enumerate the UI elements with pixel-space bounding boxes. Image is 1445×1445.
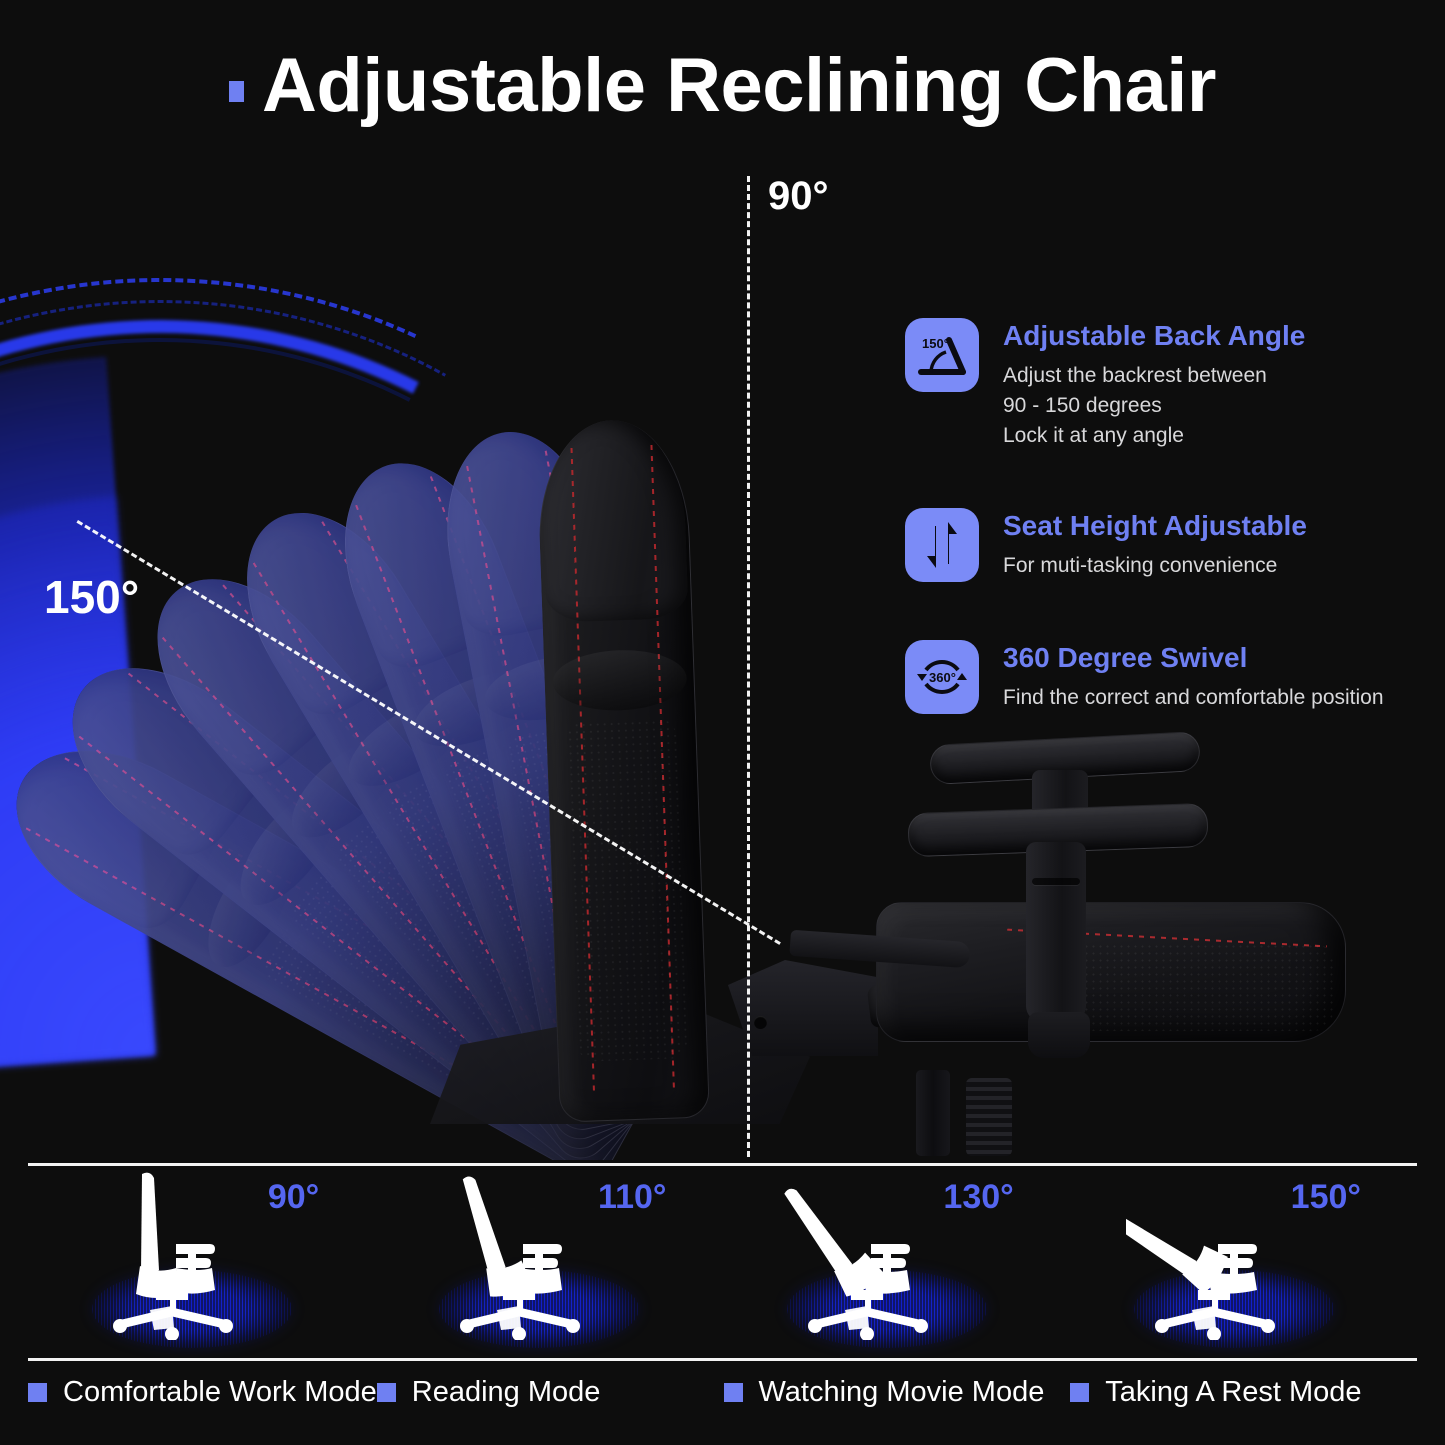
divider-top [28,1163,1417,1166]
mode-figure [779,1176,989,1352]
angle-label-150: 150° [44,570,139,624]
mode-figure [431,1176,641,1352]
mode-figure [84,1176,294,1352]
armrest-post-lower [1026,842,1086,1022]
svg-text:360°: 360° [929,670,956,685]
feature-list: 150° Adjustable Back Angle Adjust the ba… [905,318,1445,772]
guide-line-90 [747,176,750,1160]
mode-label-taking-a-rest: Taking A Rest Mode [1070,1376,1417,1409]
gas-lift-cylinder [916,1070,950,1156]
gas-lift-bellows [966,1078,1012,1156]
back-angle-icon: 150° [905,318,979,392]
mode-label-text: Comfortable Work Mode [63,1376,377,1409]
chair-silhouette-110 [431,1170,641,1340]
mode-cell-130: 130° [723,1172,1070,1354]
mode-label-reading: Reading Mode [377,1376,724,1409]
mode-label-text: Taking A Rest Mode [1105,1376,1361,1409]
feature-title: 360 Degree Swivel [1003,642,1384,674]
angle-label-90: 90° [768,174,829,219]
mode-label-comfortable-work: Comfortable Work Mode [28,1376,377,1409]
chair-seat-assembly [780,730,1400,1160]
swivel-360-icon: 360° [905,640,979,714]
mode-label-watching-movie: Watching Movie Mode [724,1376,1071,1409]
label-bullet-icon [724,1383,743,1402]
seat-height-icon [905,508,979,582]
mode-label-text: Watching Movie Mode [759,1376,1045,1409]
feature-body: Seat Height Adjustable For muti-tasking … [1003,508,1307,581]
chair-silhouette-130 [779,1170,989,1340]
feature-360-degree-swivel: 360° 360 Degree Swivel Find the correct … [905,640,1445,714]
feature-description: For muti-tasking convenience [1003,551,1307,581]
mode-labels-row: Comfortable Work Mode Reading Mode Watch… [28,1376,1417,1409]
product-infographic: Adjustable Reclining Chair [0,0,1445,1445]
feature-description: Find the correct and comfortable positio… [1003,683,1384,713]
label-bullet-icon [377,1383,396,1402]
title-bullet-icon [229,81,244,102]
mode-cell-90: 90° [28,1172,375,1354]
mode-label-text: Reading Mode [412,1376,601,1409]
mode-figure [1126,1176,1336,1352]
feature-adjustable-back-angle: 150° Adjustable Back Angle Adjust the ba… [905,318,1445,450]
mode-cell-150: 150° [1070,1172,1417,1354]
chair-silhouette-150 [1126,1170,1336,1340]
svg-text:150°: 150° [922,336,949,351]
feature-title: Seat Height Adjustable [1003,510,1307,542]
feature-body: 360 Degree Swivel Find the correct and c… [1003,640,1384,713]
recline-modes-row: 90° [28,1172,1417,1354]
seat-cushion [876,902,1346,1042]
divider-bottom [28,1358,1417,1361]
feature-body: Adjustable Back Angle Adjust the backres… [1003,318,1305,450]
armrest-foot [1028,1012,1090,1058]
feature-description: Adjust the backrest between 90 - 150 deg… [1003,361,1305,450]
recline-bracket [728,960,878,1056]
label-bullet-icon [1070,1383,1089,1402]
title-text: Adjustable Reclining Chair [262,48,1216,124]
chair-silhouette-90 [84,1170,294,1340]
mode-cell-110: 110° [375,1172,722,1354]
backrest-position-90 [536,418,710,1123]
bracket-bolt-icon [754,1016,767,1029]
label-bullet-icon [28,1383,47,1402]
feature-seat-height-adjustable: Seat Height Adjustable For muti-tasking … [905,508,1445,582]
feature-title: Adjustable Back Angle [1003,320,1305,352]
page-title: Adjustable Reclining Chair [0,48,1445,124]
